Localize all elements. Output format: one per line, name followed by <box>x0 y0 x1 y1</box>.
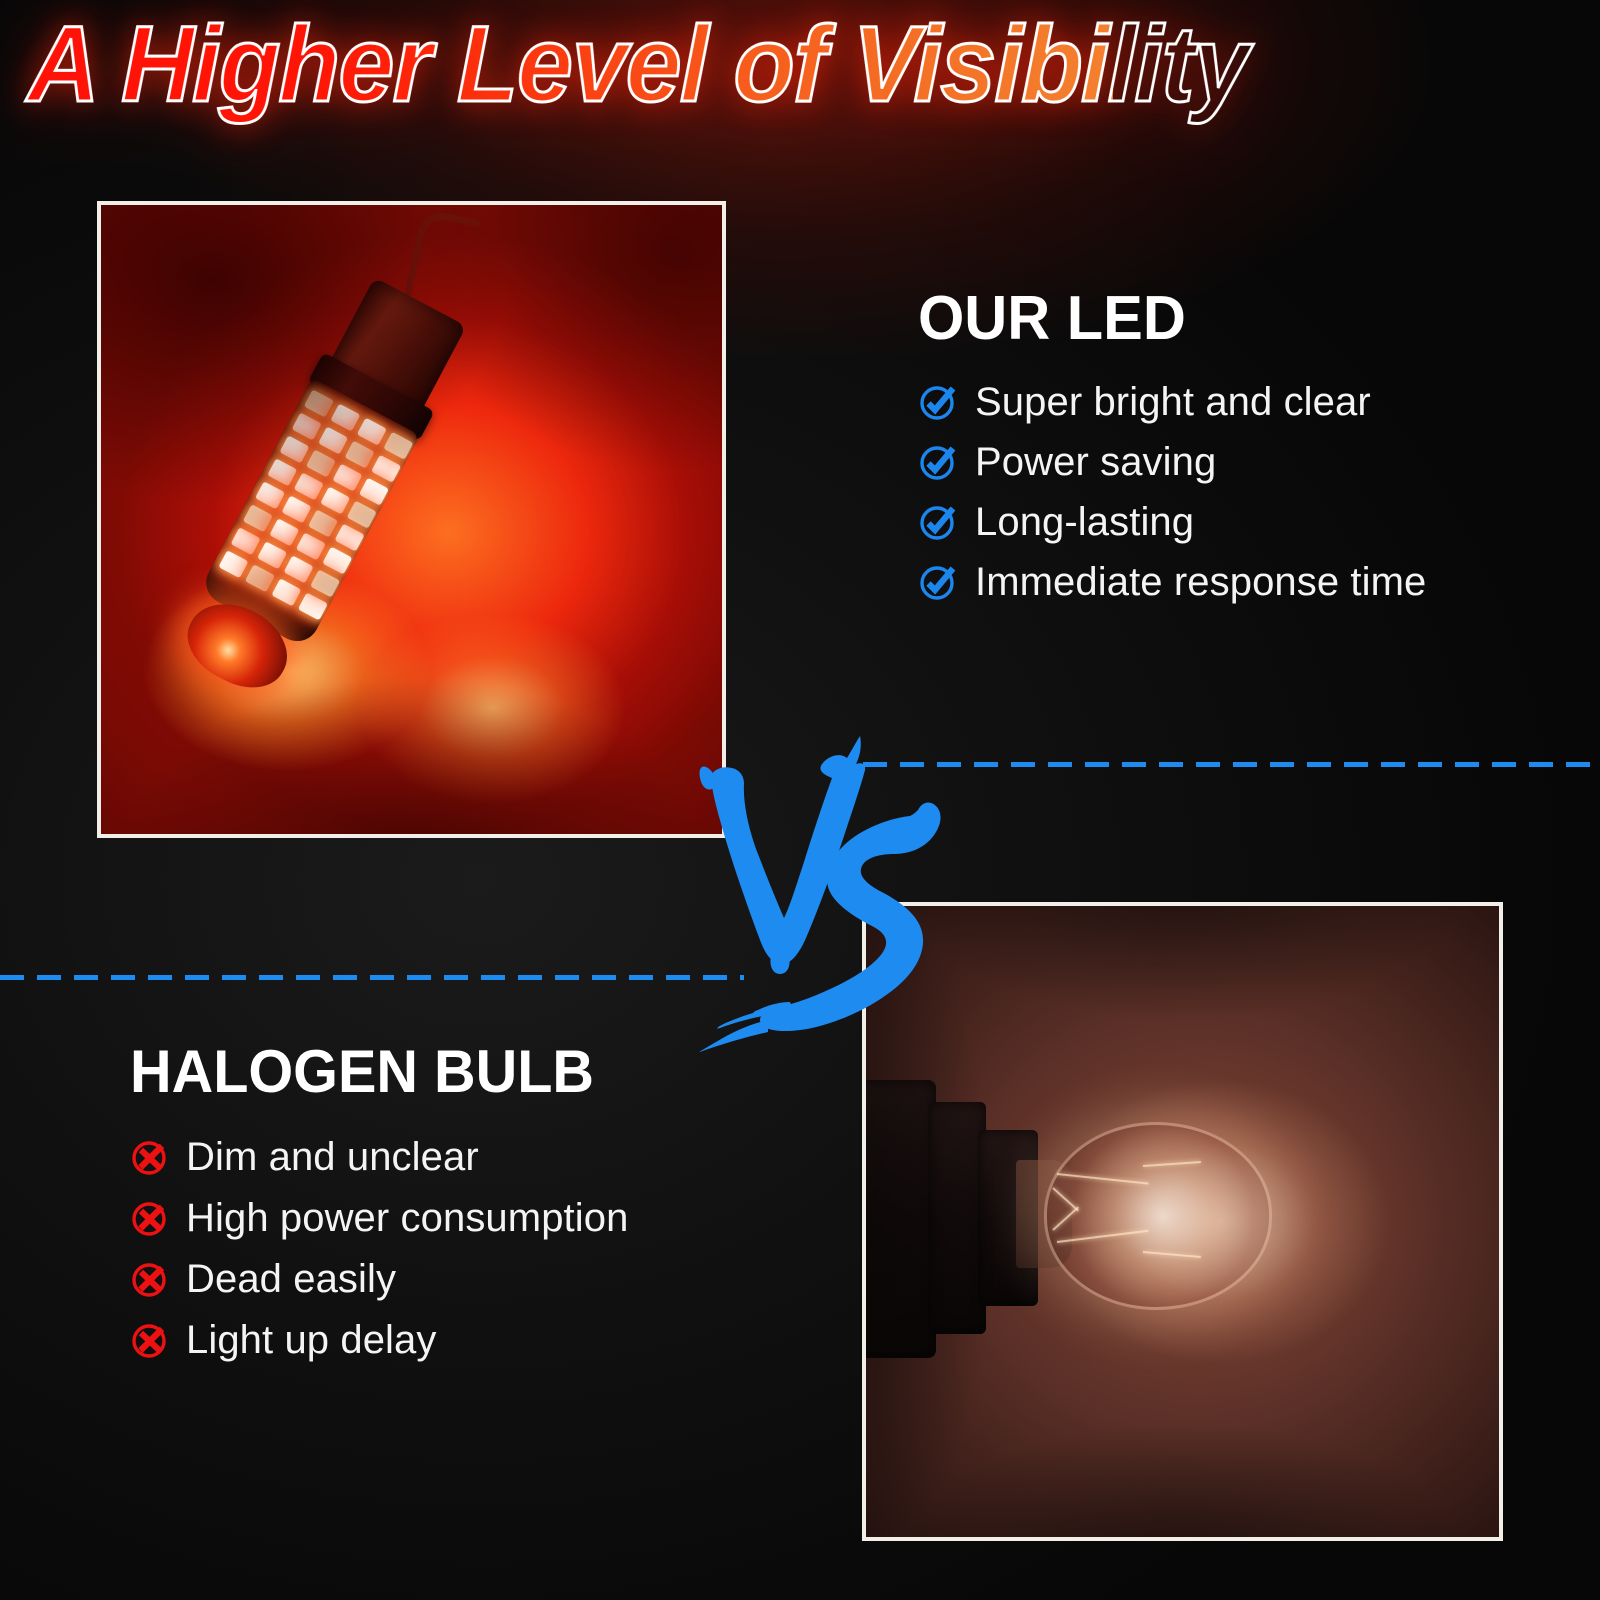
halogen-photo-scene <box>866 906 1499 1537</box>
our-led-panel: OUR LED Super bright and clear Power sav… <box>918 288 1558 612</box>
check-circle-icon <box>918 502 958 542</box>
list-item: Dim and unclear <box>130 1126 830 1187</box>
check-circle-icon <box>918 562 958 602</box>
list-item-label: Dim and unclear <box>186 1137 479 1177</box>
halogen-neck <box>1016 1160 1072 1268</box>
led-chip-column <box>235 404 362 612</box>
list-item: Long-lasting <box>918 492 1558 552</box>
halogen-feature-list: Dim and unclear High power consumption D… <box>130 1126 830 1370</box>
cross-circle-icon <box>130 1198 170 1238</box>
list-item: Immediate response time <box>918 552 1558 612</box>
halogen-bulb-panel: HALOGEN BULB Dim and unclear High power … <box>130 1042 830 1370</box>
list-item-label: Long-lasting <box>975 502 1194 542</box>
led-lens <box>175 588 302 702</box>
halogen-bulb-heading: HALOGEN BULB <box>130 1042 802 1102</box>
list-item-label: High power consumption <box>186 1198 628 1238</box>
halogen-socket <box>866 1074 1056 1366</box>
divider-dashed-left <box>0 975 744 980</box>
halogen-glass-envelope <box>1044 1122 1272 1310</box>
title-band: A Higher Level of Visibility <box>0 0 1600 132</box>
list-item-label: Light up delay <box>186 1320 436 1360</box>
halogen-bulb-photo <box>862 902 1503 1541</box>
our-led-heading: OUR LED <box>918 288 1532 350</box>
divider-dashed-right <box>826 762 1600 767</box>
page-title: A Higher Level of Visibility <box>27 6 1114 122</box>
led-bulb-photo <box>97 201 726 838</box>
list-item-label: Super bright and clear <box>975 382 1371 422</box>
led-bulb-graphic <box>168 345 441 699</box>
check-circle-icon <box>918 442 958 482</box>
led-chip-column <box>262 418 389 626</box>
led-barrel <box>199 378 420 649</box>
list-item: Super bright and clear <box>918 372 1558 432</box>
led-photo-scene <box>101 205 722 834</box>
led-collar <box>308 352 435 441</box>
list-item: Power saving <box>918 432 1558 492</box>
list-item-label: Immediate response time <box>975 562 1426 602</box>
led-wire <box>400 208 481 329</box>
cross-circle-icon <box>130 1137 170 1177</box>
infographic-page: A Higher Level of Visibility <box>0 0 1600 1600</box>
led-chip-column <box>288 432 415 640</box>
led-chip-column <box>209 389 336 597</box>
list-item: Dead easily <box>130 1248 830 1309</box>
check-circle-icon <box>918 382 958 422</box>
our-led-feature-list: Super bright and clear Power saving Long… <box>918 372 1558 612</box>
list-item: Light up delay <box>130 1309 830 1370</box>
led-base <box>322 277 466 425</box>
list-item-label: Dead easily <box>186 1259 396 1299</box>
cross-circle-icon <box>130 1259 170 1299</box>
list-item: High power consumption <box>130 1187 830 1248</box>
cross-circle-icon <box>130 1320 170 1360</box>
list-item-label: Power saving <box>975 442 1216 482</box>
